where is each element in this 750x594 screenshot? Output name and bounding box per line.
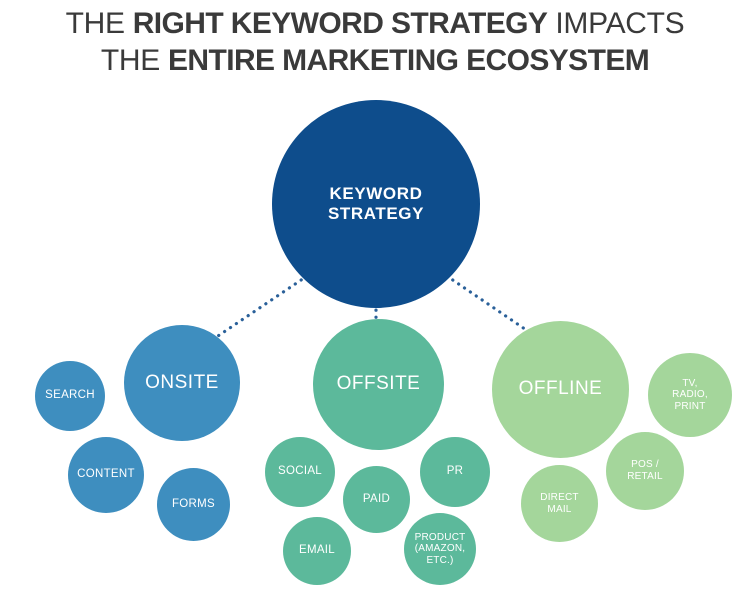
bubble-forms-label: FORMS xyxy=(157,498,230,511)
bubble-pos-retail-label: POS / RETAIL xyxy=(606,459,684,482)
bubble-offsite[interactable]: OFFSITE xyxy=(313,319,444,450)
bubble-tv-radio-print-label: TV, RADIO, PRINT xyxy=(648,378,732,413)
bubble-social-label: SOCIAL xyxy=(265,465,335,478)
bubble-keyword-strategy[interactable]: KEYWORD STRATEGY xyxy=(272,100,480,308)
bubble-pr[interactable]: PR xyxy=(420,437,490,507)
bubble-content[interactable]: CONTENT xyxy=(68,437,144,513)
bubble-pos-retail[interactable]: POS / RETAIL xyxy=(606,432,684,510)
bubble-search-label: SEARCH xyxy=(35,389,105,402)
bubble-paid[interactable]: PAID xyxy=(343,466,410,533)
bubble-email-label: EMAIL xyxy=(283,544,351,557)
bubble-product-amazon[interactable]: PRODUCT (AMAZON, ETC.) xyxy=(404,513,476,585)
bubble-onsite-label: ONSITE xyxy=(124,372,240,394)
keyword-strategy-diagram: KEYWORD STRATEGY ONSITE SEARCH CONTENT F… xyxy=(0,0,750,594)
bubble-direct-mail-label: DIRECT MAIL xyxy=(521,492,598,515)
connector-root-to-onsite xyxy=(212,272,313,340)
bubble-direct-mail[interactable]: DIRECT MAIL xyxy=(521,465,598,542)
bubble-offline-label: OFFLINE xyxy=(492,378,629,400)
bubble-forms[interactable]: FORMS xyxy=(157,468,230,541)
bubble-product-amazon-label: PRODUCT (AMAZON, ETC.) xyxy=(404,532,476,567)
bubble-pr-label: PR xyxy=(420,465,490,478)
bubble-email[interactable]: EMAIL xyxy=(283,517,351,585)
bubble-tv-radio-print[interactable]: TV, RADIO, PRINT xyxy=(648,353,732,437)
bubble-search[interactable]: SEARCH xyxy=(35,361,105,431)
bubble-offline[interactable]: OFFLINE xyxy=(492,321,629,458)
bubble-paid-label: PAID xyxy=(343,493,410,506)
bubble-content-label: CONTENT xyxy=(68,468,144,481)
bubble-social[interactable]: SOCIAL xyxy=(265,437,335,507)
bubble-keyword-strategy-label: KEYWORD STRATEGY xyxy=(272,184,480,223)
bubble-offsite-label: OFFSITE xyxy=(313,373,444,395)
bubble-onsite[interactable]: ONSITE xyxy=(124,325,240,441)
